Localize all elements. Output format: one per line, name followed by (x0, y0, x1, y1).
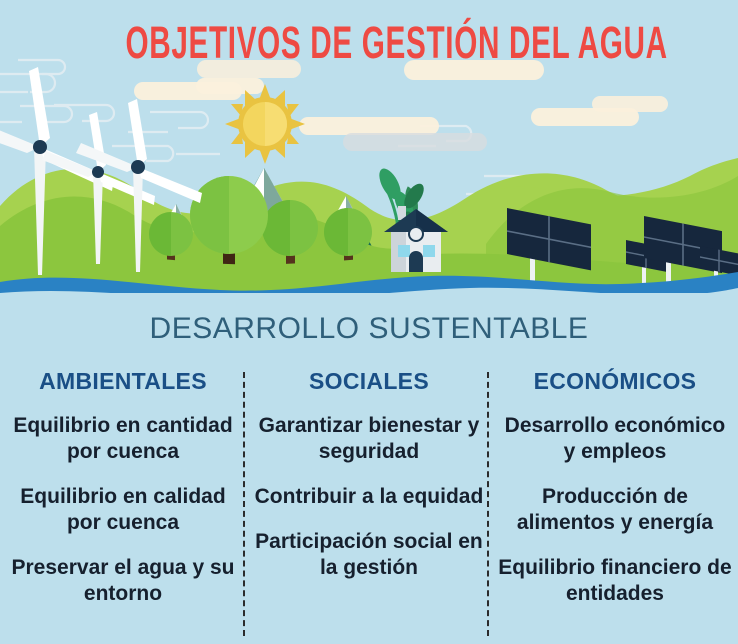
goals-columns: AMBIENTALES Equilibrio en cantidad por c… (0, 368, 738, 638)
page-title: OBJETIVOS DE GESTIÓN DEL AGUA (125, 18, 612, 68)
goal-item: Producción de alimentos y energía (498, 484, 732, 536)
subtitle: DESARROLLO SUSTENTABLE (0, 312, 738, 346)
column-ambientales: AMBIENTALES Equilibrio en cantidad por c… (0, 368, 246, 638)
column-sociales: SOCIALES Garantizar bienestar y segurida… (246, 368, 492, 638)
goal-item: Equilibrio en cantidad por cuenca (6, 413, 240, 465)
goal-item: Desarrollo económico y empleos (498, 413, 732, 465)
goal-item: Garantizar bienestar y seguridad (252, 413, 486, 465)
lower-panel: DESARROLLO SUSTENTABLE AMBIENTALES Equil… (0, 300, 738, 644)
goal-item: Contribuir a la equidad (255, 484, 484, 510)
goal-item: Equilibrio financiero de entidades (498, 555, 732, 607)
goal-item: Preservar el agua y su entorno (6, 555, 240, 607)
column-header-sociales: SOCIALES (309, 368, 429, 395)
goal-item: Equilibrio en calidad por cuenca (6, 484, 240, 536)
column-header-ambientales: AMBIENTALES (39, 368, 207, 395)
goal-item: Participación social en la gestión (252, 529, 486, 581)
column-header-economicos: ECONÓMICOS (534, 368, 697, 395)
infographic-poster: OBJETIVOS DE GESTIÓN DEL AGUA DESARROLLO… (0, 0, 738, 644)
column-economicos: ECONÓMICOS Desarrollo económico y empleo… (492, 368, 738, 638)
